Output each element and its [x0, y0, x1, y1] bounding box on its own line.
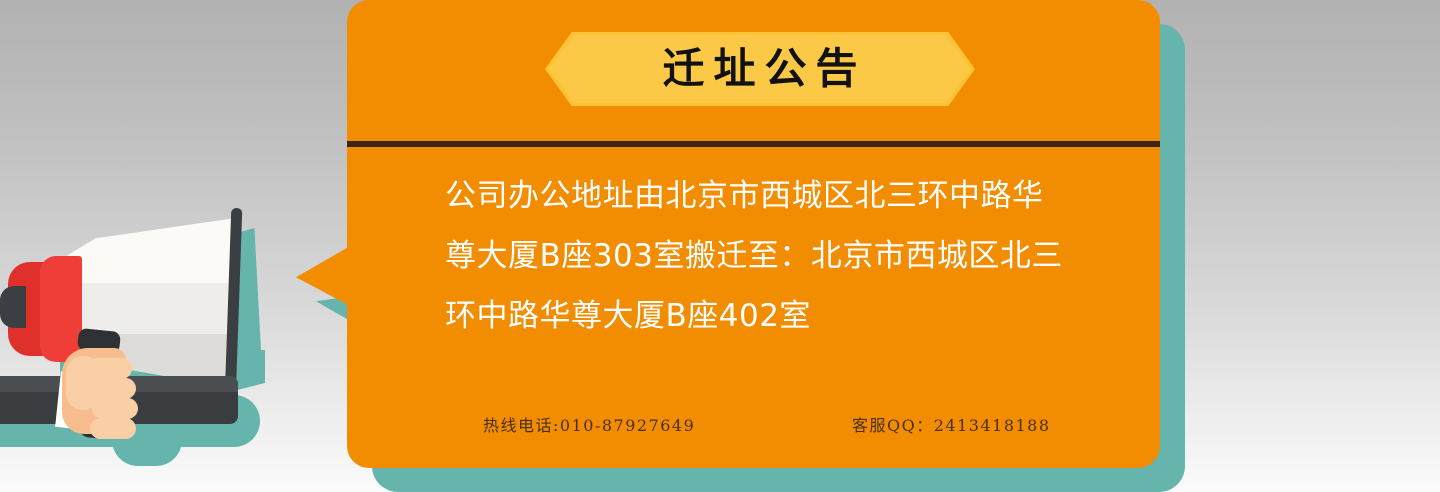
title-divider [347, 141, 1160, 147]
megaphone-illustration [0, 180, 360, 492]
megaphone-cap [0, 286, 26, 328]
hand-finger [90, 418, 136, 439]
cone-band-middle [56, 283, 236, 334]
hand-finger [90, 378, 136, 399]
announcement-line: 尊大厦B座303室搬迁至：北京市西城区北三 [445, 226, 1105, 286]
hand-finger [86, 358, 132, 379]
announcement-card: 迁址公告 公司办公地址由北京市西城区北三环中路华 尊大厦B座303室搬迁至：北京… [347, 0, 1160, 468]
hand-finger [92, 398, 138, 419]
hotline-phone: 热线电话:010-87927649 [483, 412, 695, 436]
contact-footer: 热线电话:010-87927649 客服QQ：2413418188 [347, 406, 1160, 440]
service-qq: 客服QQ：2413418188 [852, 412, 1051, 436]
cone-band-top [56, 218, 236, 283]
announcement-line: 环中路华尊大厦B座402室 [445, 286, 1105, 346]
announcement-body: 公司办公地址由北京市西城区北三环中路华 尊大厦B座303室搬迁至：北京市西城区北… [445, 166, 1105, 346]
announcement-line: 公司办公地址由北京市西城区北三环中路华 [445, 166, 1105, 226]
page-title: 迁址公告 [545, 32, 975, 106]
poster-stage: 迁址公告 公司办公地址由北京市西城区北三环中路华 尊大厦B座303室搬迁至：北京… [0, 0, 1440, 492]
megaphone-mouthpiece-light [40, 256, 82, 362]
